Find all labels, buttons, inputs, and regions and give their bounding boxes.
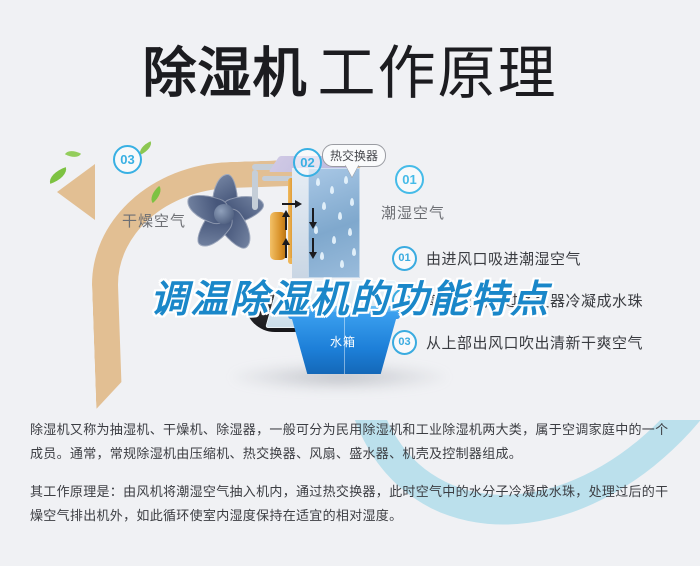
step-label: 从上部出风口吹出清新干爽空气 (426, 332, 643, 353)
diagram-badge-01: 01 (395, 165, 424, 194)
body-paragraph-2: 其工作原理是：由风机将潮湿空气抽入机内，通过热交换器，此时空气中的水分子冷凝成水… (30, 480, 674, 528)
page-title-bold: 除湿机 (142, 44, 307, 104)
heat-exchanger-callout-label: 热交换器 (330, 149, 378, 163)
body-paragraph-1: 除湿机又称为抽湿机、干燥机、除湿器，一般可分为民用除湿机和工业除湿机两大类，属于… (30, 418, 674, 466)
watermark-text: 调温除湿机的功能特点 (0, 268, 700, 323)
step-badge: 01 (392, 246, 417, 271)
diagram-badge-02: 02 (293, 148, 322, 177)
step-badge: 03 (392, 330, 417, 355)
refrigerant-pipe (252, 170, 258, 210)
diagram-badge-03: 03 (113, 145, 142, 174)
list-item: 03 从上部出风口吹出清新干爽空气 (392, 327, 692, 357)
humid-air-label: 潮湿空气 (381, 202, 445, 223)
compressor-cylinder (270, 212, 286, 260)
callout-pointer-icon (345, 164, 359, 177)
water-tank-label: 水箱 (330, 333, 356, 350)
infographic-page: 除湿机工作原理 干燥空气 (0, 0, 700, 566)
step-label: 由进风口吸进潮湿空气 (426, 248, 581, 269)
body-copy: 除湿机又称为抽湿机、干燥机、除湿器，一般可分为民用除湿机和工业除湿机两大类，属于… (30, 418, 674, 542)
